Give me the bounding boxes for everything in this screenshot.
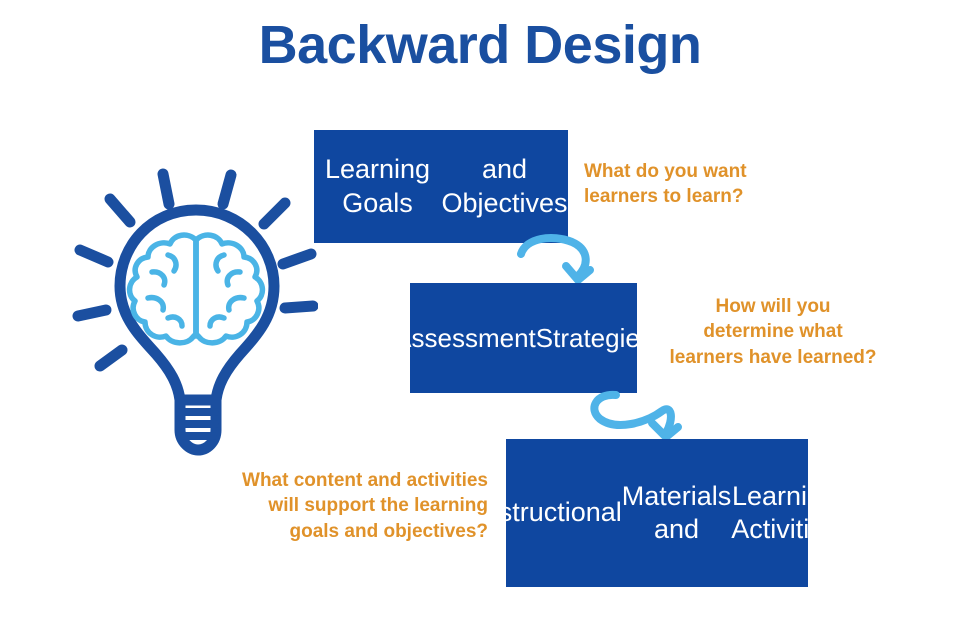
- infographic-canvas: Backward Design: [0, 0, 960, 640]
- step-box-line-1: Learning Goals: [314, 153, 441, 220]
- lightbulb-with-brain-icon: [68, 158, 318, 458]
- caption-line-2: determine what: [648, 319, 898, 344]
- step-box-line-2: and Objectives: [441, 153, 568, 220]
- caption-line-3: learners have learned?: [648, 345, 898, 370]
- step-caption-instructional-materials: What content and activities will support…: [198, 468, 488, 544]
- step-caption-learning-goals: What do you want learners to learn?: [584, 159, 799, 210]
- page-title: Backward Design: [0, 16, 960, 75]
- caption-line-1: What content and activities: [198, 468, 488, 493]
- caption-line-2: will support the learning: [198, 493, 488, 518]
- caption-line-2: learners to learn?: [584, 184, 799, 209]
- step-box-learning-goals[interactable]: Learning Goals and Objectives: [314, 130, 568, 243]
- caption-line-1: How will you: [648, 294, 898, 319]
- caption-line-3: goals and objectives?: [198, 519, 488, 544]
- step-box-line-1: Instructional: [476, 496, 622, 529]
- step-box-instructional-materials[interactable]: Instructional Materials and Learning Act…: [506, 439, 808, 587]
- caption-line-1: What do you want: [584, 159, 799, 184]
- step-caption-assessment-strategies: How will you determine what learners hav…: [648, 294, 898, 370]
- step-box-line-1: Assessment: [394, 322, 536, 354]
- step-box-line-2: Strategies: [536, 322, 653, 354]
- step-box-assessment-strategies[interactable]: Assessment Strategies: [410, 283, 637, 393]
- step-box-line-3: Learning Activities: [731, 480, 838, 547]
- step-box-line-2: Materials and: [622, 480, 732, 547]
